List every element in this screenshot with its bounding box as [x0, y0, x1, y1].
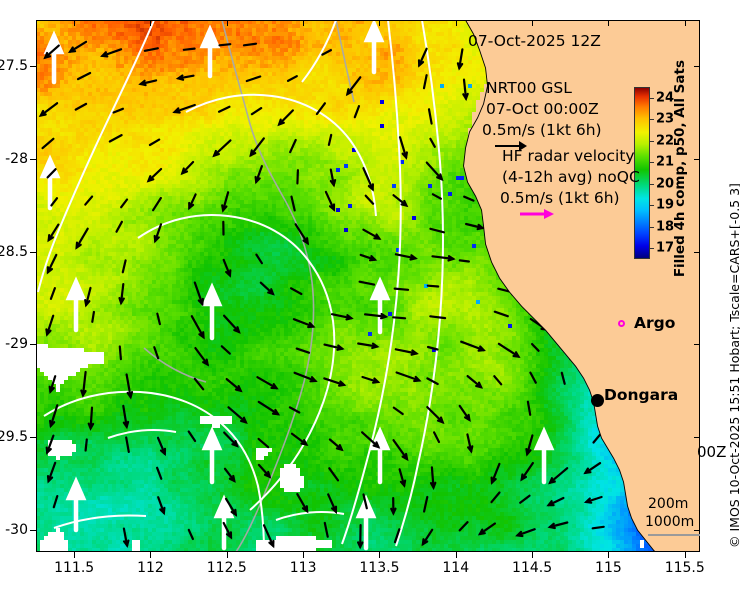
gsl-vector: [288, 76, 297, 81]
gsl-vector: [189, 432, 195, 442]
gsl-vector: [532, 344, 539, 351]
y-tick-label: -30: [5, 522, 28, 538]
dongara-city-marker: [591, 394, 604, 407]
gsl-vector: [430, 316, 445, 318]
x-tick-label: 112.5: [207, 560, 247, 576]
argo-marker-icon: [618, 320, 625, 327]
x-tick-label: 114.5: [512, 560, 552, 576]
y-tick-right: [694, 66, 700, 67]
map-overlays: [36, 20, 700, 552]
gsl-vector: [291, 288, 301, 294]
y-tick-label: -29: [5, 336, 28, 352]
gsl-vector: [259, 402, 278, 414]
gsl-vector: [394, 440, 408, 459]
gsl-vector: [257, 377, 276, 388]
map-plot-area: [36, 20, 700, 552]
gsl-vector: [520, 496, 529, 503]
gsl-vector: [214, 140, 230, 155]
gsl-vector: [114, 109, 123, 113]
x-tick-top: [532, 20, 533, 26]
gsl-vector: [464, 197, 473, 201]
gsl-vector: [593, 527, 604, 529]
clipped-time-label: 00Z: [697, 443, 726, 461]
gsl-vector: [395, 289, 408, 290]
y-tick-right: [694, 437, 700, 438]
x-tick-label: 112: [137, 560, 164, 576]
gsl-vector: [428, 347, 438, 350]
x-tick-top: [227, 20, 228, 26]
y-tick: [30, 159, 36, 160]
gsl-vector: [153, 198, 161, 210]
gsl-vector: [219, 107, 230, 112]
gsl-vector: [279, 110, 293, 124]
y-tick-right: [694, 530, 700, 531]
x-tick-top: [379, 20, 380, 26]
gsl-vector: [41, 103, 57, 115]
gsl-vector: [424, 75, 427, 88]
x-tick-label: 113.5: [359, 560, 399, 576]
gsl-vector: [430, 229, 444, 233]
gsl-vector: [85, 197, 92, 205]
y-tick-label: -28: [5, 151, 28, 167]
y-tick-right: [694, 344, 700, 345]
hf-radar-label: HF radar velocity: [502, 147, 635, 165]
gsl-vector: [492, 493, 500, 503]
y-tick: [30, 344, 36, 345]
gsl-vector: [120, 347, 121, 360]
y-tick: [30, 530, 36, 531]
x-tick-top: [150, 20, 151, 26]
gsl-vector: [222, 346, 230, 353]
gsl-vector: [434, 432, 439, 442]
gsl-vector: [495, 312, 508, 317]
colorbar-tick: [650, 227, 654, 228]
gsl-vector: [429, 109, 432, 123]
gsl-vector: [528, 402, 530, 415]
gsl-vector: [229, 407, 246, 422]
gsl-vector: [51, 288, 55, 299]
colorbar-tick: [650, 119, 654, 120]
gsl-vector: [296, 224, 308, 243]
colorbar-tick: [650, 205, 654, 206]
gsl-vector: [292, 197, 295, 211]
gsl-vector: [360, 282, 374, 285]
y-tick: [30, 437, 36, 438]
gsl-vector: [220, 44, 231, 45]
gsl-vector: [86, 440, 87, 451]
gsl-vector: [247, 77, 260, 82]
x-tick: [532, 552, 533, 558]
gsl-vector: [329, 468, 338, 480]
scalebar-1000m-label: 1000m: [645, 514, 694, 530]
gsl-vector: [121, 200, 127, 208]
x-tick-top: [608, 20, 609, 26]
x-tick: [74, 552, 75, 558]
hf-radar-scale-label: 0.5m/s (1kt 6h): [500, 189, 620, 207]
x-tick-top: [74, 20, 75, 26]
x-tick: [685, 552, 686, 558]
x-tick-label: 111.5: [54, 560, 94, 576]
gsl-vector: [227, 379, 241, 391]
gsl-source-label: NRT00 GSL: [486, 79, 572, 97]
gsl-vector: [184, 49, 195, 50]
date-stamp: 07-Oct-2025 12Z: [468, 32, 601, 50]
argo-legend-label: Argo: [634, 314, 675, 332]
gsl-vector: [297, 349, 309, 353]
y-tick: [30, 252, 36, 253]
gsl-vector: [259, 439, 269, 447]
gsl-vector: [594, 434, 601, 442]
gsl-vector: [251, 138, 264, 155]
x-tick-top: [685, 20, 686, 26]
y-tick-label: -27.5: [0, 58, 28, 74]
y-tick-right: [694, 159, 700, 160]
colorbar-tick: [650, 141, 654, 142]
gsl-vector: [189, 530, 193, 539]
hf-reference-arrow: [519, 208, 555, 220]
gsl-vector: [252, 108, 261, 114]
hf-radar-avg-label: (4-12h avg) noQC: [502, 168, 640, 186]
gsl-vector: [43, 139, 54, 148]
gsl-vector: [157, 314, 160, 325]
gsl-vector: [427, 407, 442, 422]
y-tick: [30, 66, 36, 67]
gsl-vector: [522, 463, 533, 479]
gsl-vector: [322, 50, 331, 55]
gsl-vector: [494, 376, 501, 384]
gsl-vector: [430, 139, 434, 147]
gsl-vector: [126, 438, 129, 452]
y-tick-label: -29.5: [0, 429, 28, 445]
gsl-vector: [394, 408, 403, 414]
scalebar-line: [648, 534, 700, 536]
x-tick-top: [456, 20, 457, 26]
gsl-vector: [92, 312, 94, 322]
gsl-vector: [244, 44, 256, 46]
x-tick: [608, 552, 609, 558]
y-tick-label: -28.5: [0, 244, 28, 260]
gsl-vector: [428, 286, 438, 287]
x-tick: [456, 552, 457, 558]
x-tick: [227, 552, 228, 558]
gsl-vector: [366, 196, 373, 204]
gsl-vector: [393, 317, 405, 318]
gsl-vector: [123, 260, 126, 272]
gsl-vector: [117, 222, 122, 232]
figure-root: 111.5112112.5113113.5114114.5115115.5 -2…: [0, 0, 740, 592]
gsl-vector: [110, 135, 122, 141]
gsl-vector: [77, 229, 88, 248]
gsl-vector: [297, 170, 298, 183]
gsl-vector: [224, 316, 239, 332]
dongara-city-label: Dongara: [604, 386, 678, 404]
gsl-vector: [460, 260, 469, 261]
gsl-vector: [192, 316, 204, 337]
colorbar-tick: [650, 162, 654, 163]
gsl-vector: [76, 104, 86, 110]
x-tick: [303, 552, 304, 558]
copyright-notice: © IMOS 10-Oct-2025 15:51 Hobart; Tscale=…: [727, 183, 740, 548]
x-tick-label: 115.5: [665, 560, 705, 576]
gsl-vector: [145, 48, 158, 51]
gsl-vector: [530, 373, 535, 383]
gsl-scale-label: 0.5m/s (1kt 6h): [482, 121, 602, 139]
colorbar-tick: [650, 184, 654, 185]
gsl-vector: [78, 73, 90, 79]
gsl-vector: [256, 255, 262, 264]
gsl-vector: [355, 106, 359, 117]
colorbar-tick: [650, 248, 654, 249]
scalebar-200m-label: 200m: [648, 496, 688, 512]
gsl-vector: [325, 523, 328, 537]
gsl-vector: [150, 140, 159, 145]
gsl-vector: [433, 194, 441, 198]
gsl-vector: [499, 344, 519, 357]
gsl-vector: [329, 135, 331, 145]
x-tick-label: 115: [595, 560, 622, 576]
gsl-vector: [424, 497, 427, 512]
gsl-vector: [562, 373, 565, 384]
gsl-vector: [550, 468, 567, 483]
gsl-vector: [290, 140, 296, 152]
x-tick: [150, 552, 151, 558]
y-tick-right: [694, 252, 700, 253]
colorbar-title: Filled 4h comp, p50, All Sats: [672, 60, 688, 277]
x-tick-top: [303, 20, 304, 26]
gsl-vector: [460, 522, 468, 530]
gsl-vector: [157, 468, 161, 479]
x-tick-label: 114: [442, 560, 469, 576]
gsl-vector: [54, 496, 58, 507]
x-tick-label: 113: [290, 560, 317, 576]
gsl-vector: [195, 348, 207, 364]
gsl-time-label: 07-Oct 00:00Z: [486, 100, 599, 118]
x-tick: [379, 552, 380, 558]
colorbar-tick: [650, 98, 654, 99]
